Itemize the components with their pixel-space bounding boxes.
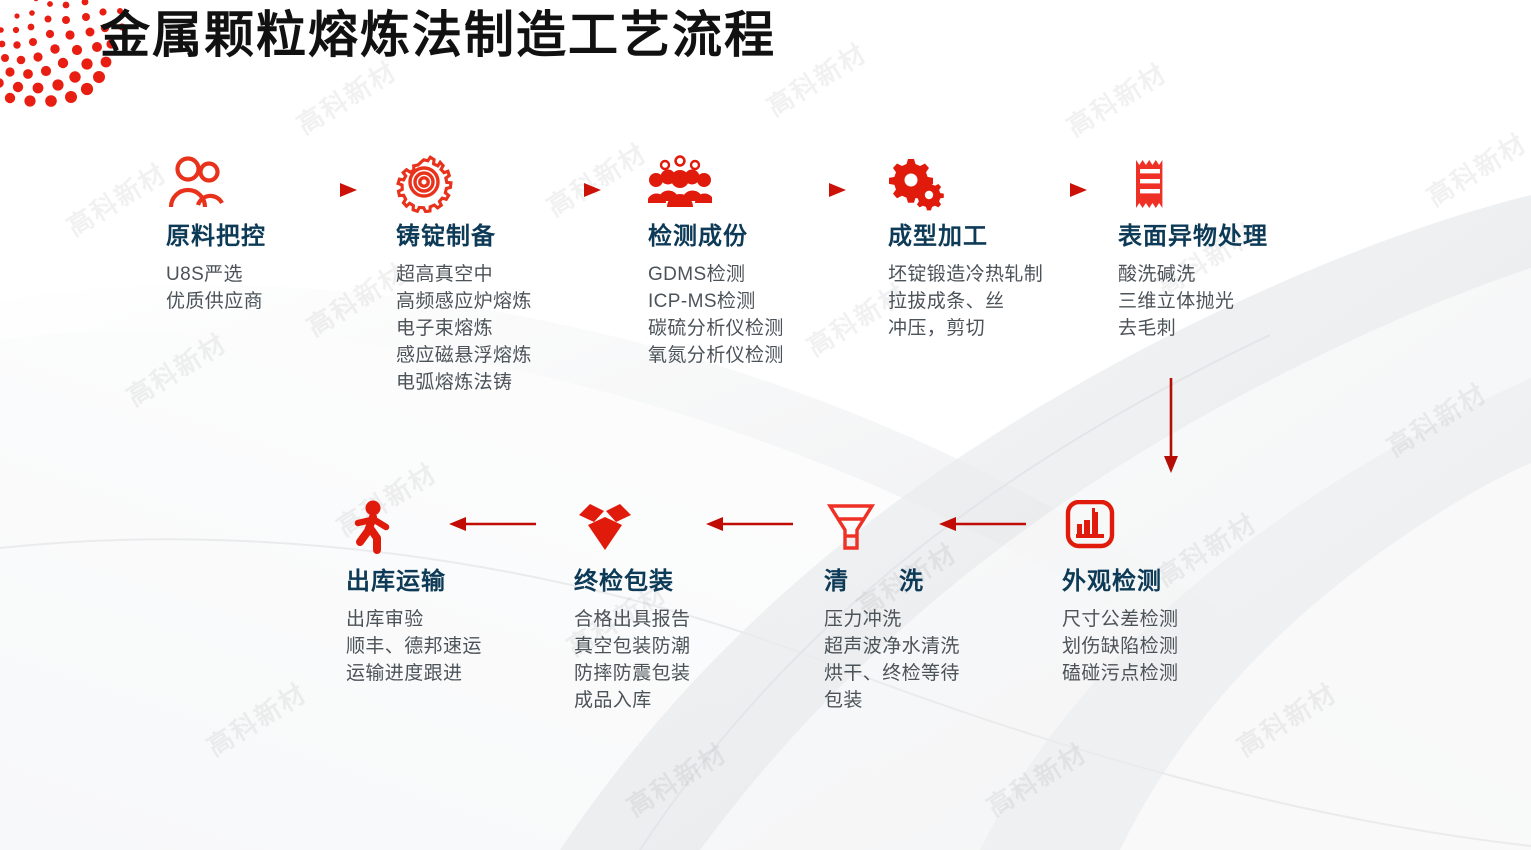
flow-step-6[interactable]: 外观检测 尺寸公差检测 划伤缺陷检测 磕碰污点检测 [1062,500,1178,688]
flow-step-5[interactable]: 表面异物处理 酸洗碱洗 三维立体抛光 去毛刺 [1118,155,1268,343]
flow-step-8-line: 成品入库 [574,688,690,715]
flow-step-5-title: 表面异物处理 [1118,223,1268,252]
page-title: 金属颗粒熔炼法制造工艺流程 [100,5,776,65]
flow-step-7-line: 压力冲洗 [824,607,976,634]
flow-step-2-title: 铸锭制备 [396,223,532,252]
flow-step-9[interactable]: 出库运输 出库审验 顺丰、德邦速运 运输进度跟进 [346,500,482,688]
factory-icon [1062,500,1178,562]
flow-step-7-title: 清 洗 [824,568,976,597]
flow-step-3-title: 检测成份 [648,223,784,252]
flow-step-2-line: 感应磁悬浮熔炼 [396,343,532,370]
flow-step-5-lines: 酸洗碱洗 三维立体抛光 去毛刺 [1118,262,1268,343]
arrow-step3-to-step4 [757,178,847,202]
flow-step-9-line: 运输进度跟进 [346,661,482,688]
flow-step-6-title: 外观检测 [1062,568,1178,597]
watermark-layer: 高科新材 高科新材 高科新材 高科新材 高科新材 高科新材 高科新材 高科新材 … [0,0,1531,850]
flow-step-8-line: 合格出具报告 [574,607,690,634]
watermark-text: 高科新材 [619,733,734,824]
flow-step-7-line: 超声波净水清洗 [824,634,976,661]
watermark-text: 高科新材 [199,673,314,764]
flow-step-4-line: 坯锭锻造冷热轧制 [888,262,1043,289]
watermark-text: 高科新材 [1419,123,1531,214]
flow-step-6-line: 磕碰污点检测 [1062,661,1178,688]
funnel-icon [824,500,976,562]
flow-step-6-line: 划伤缺陷检测 [1062,634,1178,661]
flow-step-8-line: 真空包装防潮 [574,634,690,661]
flow-step-6-line: 尺寸公差检测 [1062,607,1178,634]
watermark-text: 高科新材 [1229,673,1344,764]
watermark-text: 高科新材 [59,153,174,244]
flow-step-9-line: 顺丰、德邦速运 [346,634,482,661]
arrow-step4-to-step5 [998,178,1088,202]
flow-step-1[interactable]: 原料把控 U8S严选 优质供应商 [166,155,266,316]
users-icon [166,155,266,217]
watermark-text: 高科新材 [979,733,1094,824]
flow-step-1-lines: U8S严选 优质供应商 [166,262,266,316]
flow-step-3-line: 氧氮分析仪检测 [648,343,784,370]
flow-step-4-title: 成型加工 [888,223,1043,252]
flow-step-3-line: GDMS检测 [648,262,784,289]
flow-step-1-title: 原料把控 [166,223,266,252]
slide-canvas: 高科新材 高科新材 高科新材 高科新材 高科新材 高科新材 高科新材 高科新材 … [0,0,1531,850]
flow-step-6-lines: 尺寸公差检测 划伤缺陷检测 磕碰污点检测 [1062,607,1178,688]
flow-step-7[interactable]: 清 洗 压力冲洗 超声波净水清洗 烘干、终检等待包装 [824,500,976,715]
flow-step-4-line: 冲压，剪切 [888,316,1043,343]
flow-step-3-line: ICP-MS检测 [648,289,784,316]
flow-step-5-line: 三维立体抛光 [1118,289,1268,316]
watermark-text: 高科新材 [1059,53,1174,144]
flow-step-8[interactable]: 终检包装 合格出具报告 真空包装防潮 防摔防震包装 成品入库 [574,500,690,715]
flow-step-1-line: 优质供应商 [166,289,266,316]
flow-step-8-title: 终检包装 [574,568,690,597]
background-decoration [0,0,1531,850]
receipt-icon [1118,155,1268,217]
watermark-text: 高科新材 [119,323,234,414]
flow-step-3-lines: GDMS检测 ICP-MS检测 碳硫分析仪检测 氧氮分析仪检测 [648,262,784,370]
flow-step-1-line: U8S严选 [166,262,266,289]
flow-step-5-line: 去毛刺 [1118,316,1268,343]
watermark-text: 高科新材 [1379,373,1494,464]
flow-step-7-line: 烘干、终检等待包装 [824,661,976,715]
flow-step-3-line: 碳硫分析仪检测 [648,316,784,343]
arrow-step2-to-step3 [512,178,602,202]
flow-step-2-line: 高频感应炉熔炼 [396,289,532,316]
flow-step-2-line: 电子束熔炼 [396,316,532,343]
flow-step-2-line: 超高真空中 [396,262,532,289]
flow-step-7-lines: 压力冲洗 超声波净水清洗 烘干、终检等待包装 [824,607,976,715]
open-box-icon [574,500,690,562]
arrow-step7-to-step8 [705,512,795,536]
flow-step-8-line: 防摔防震包装 [574,661,690,688]
flow-step-9-title: 出库运输 [346,568,482,597]
flow-step-5-line: 酸洗碱洗 [1118,262,1268,289]
flow-step-2-line: 电弧熔炼法铸 [396,370,532,397]
flow-step-9-lines: 出库审验 顺丰、德邦速运 运输进度跟进 [346,607,482,688]
arrow-step1-to-step2 [268,178,358,202]
flow-step-8-lines: 合格出具报告 真空包装防潮 防摔防震包装 成品入库 [574,607,690,715]
flow-step-9-line: 出库审验 [346,607,482,634]
flow-step-2-lines: 超高真空中 高频感应炉熔炼 电子束熔炼 感应磁悬浮熔炼 电弧熔炼法铸 [396,262,532,397]
flow-step-4-line: 拉拔成条、丝 [888,289,1043,316]
walking-person-icon [346,500,482,562]
flow-step-4-lines: 坯锭锻造冷热轧制 拉拔成条、丝 冲压，剪切 [888,262,1043,343]
arrow-step5-to-step6 [1158,378,1184,474]
